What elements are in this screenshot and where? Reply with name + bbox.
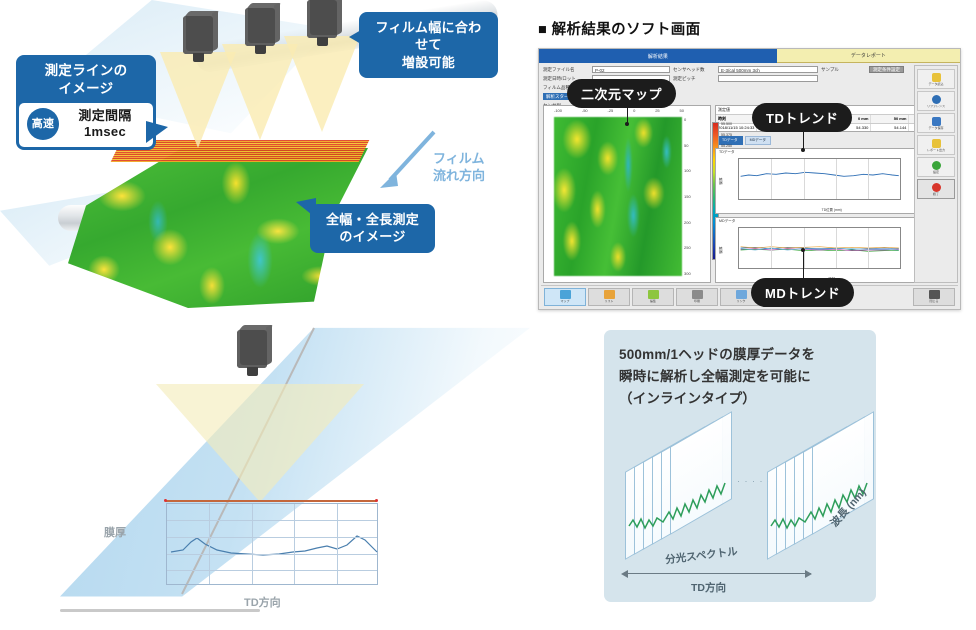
info-line-2: 瞬時に解析し全幅測定を可能に (619, 366, 861, 388)
bottom-button-label: 編集 (650, 299, 656, 303)
exit-icon (929, 290, 940, 299)
print-icon (692, 290, 703, 299)
map-x-axis: -100 -50 -25 0 25 50 (554, 108, 684, 116)
tool-button-save-data[interactable]: データ保存 (917, 113, 955, 133)
thickness-profile-path (167, 504, 379, 586)
right-toolbar: データ読込 リファレンス データ保存 レポート出力 設定 終了 (914, 65, 958, 283)
map-x-tick: 50 (679, 108, 683, 116)
window-tabbar: 解析結果 データレポート (539, 49, 960, 63)
open-folder-icon (932, 73, 941, 82)
callout-measure-body-l1: 測定間隔 (78, 108, 131, 123)
work-area: 二次元マップ -100 -50 -25 0 25 50 0 50 100 150… (543, 105, 912, 283)
colorbar-tick: 55.500 (721, 122, 732, 126)
leader-md-trend (803, 250, 804, 280)
measurement-point-right (375, 499, 378, 502)
inline-type-info-card: 500mm/1ヘッドの膜厚データを 瞬時に解析し全幅測定を可能に （インラインタ… (604, 330, 876, 602)
flow-label-l2: 流れ方向 (433, 168, 485, 183)
map-y-tick: 100 (684, 168, 708, 173)
flow-direction-label: フィルム 流れ方向 (433, 151, 485, 185)
two-dimensional-map-panel[interactable]: 二次元マップ -100 -50 -25 0 25 50 0 50 100 150… (543, 105, 711, 283)
td-arrow-head-right (805, 570, 812, 578)
export-icon (932, 139, 941, 148)
spectrum-stack-left (625, 430, 735, 548)
td-chart-xlabel: TD位置 (mm) (716, 207, 947, 212)
tool-label: 終了 (933, 192, 939, 196)
info-line-3: （インラインタイプ） (619, 388, 861, 410)
light-cone (156, 384, 364, 502)
map-y-tick: 0 (684, 117, 708, 122)
spectrum-wave-left (627, 464, 731, 542)
leader-dot-td-trend (801, 148, 805, 152)
bottom-button-label: 閉じる (929, 299, 938, 303)
measurement-line (166, 500, 376, 502)
tab-md-data[interactable]: MDデータ (745, 136, 771, 145)
bottom-button-map[interactable]: マップ (544, 288, 586, 306)
callout-full-area-l2: のイメージ (339, 229, 405, 244)
callout-measure-title-l1: 測定ラインの (45, 63, 128, 78)
callout-full-area-tail (296, 198, 316, 218)
md-chart-ylabel: 膜厚 (719, 246, 724, 253)
tool-label: データ保存 (928, 126, 943, 130)
field-label-filename: 測定ファイル名 (543, 67, 589, 73)
thickness-profile-chart (166, 503, 378, 585)
thickness-map-image (554, 117, 682, 276)
map-x-tick: -25 (607, 108, 613, 116)
camera-head-3 (307, 0, 341, 54)
leader-dot-2d-map (625, 122, 629, 126)
badge-high-speed: 高速 (27, 108, 59, 140)
thickness-label: 膜厚 (104, 524, 126, 540)
tool-button-exit[interactable]: 終了 (917, 179, 955, 199)
tool-label: レポート出力 (927, 148, 945, 152)
td-direction-card-label: TD方向 (691, 580, 726, 595)
callout-expandable-line2: 増設可能 (402, 55, 455, 70)
map-y-tick: 150 (684, 194, 708, 199)
pill-2d-map: 二次元マップ (567, 79, 676, 108)
link-icon (736, 290, 747, 299)
tool-label: 設定 (933, 170, 939, 174)
field-label-sensorheads: センサヘッド数 (673, 67, 715, 73)
map-x-tick: 0 (633, 108, 635, 116)
save-disk-icon (932, 117, 941, 126)
callout-measure-tail (146, 121, 168, 143)
td-chart-caption: TDデータ (719, 150, 735, 155)
camera-head-single (237, 330, 271, 384)
software-result-section: ■ 解析結果のソフト画面 解析結果 データレポート 測定ファイル名 P-02 セ… (505, 18, 976, 318)
camera-head-1 (183, 16, 217, 70)
td-plot-area (738, 158, 901, 200)
bottom-button-label: 印刷 (694, 299, 700, 303)
map-x-tick: -100 (554, 108, 562, 116)
td-chart-ylabel: 膜厚 (719, 177, 724, 184)
button-measure-settings[interactable]: 測定条件設定 (869, 66, 904, 73)
table-col: 50 mm (871, 115, 909, 123)
spectrum-stack-diagram: · · · · · · · · · · · · 分光スペクトル 波長 (nm) … (619, 416, 861, 586)
green-circle-icon (932, 161, 941, 170)
callout-expandable-tail (349, 30, 361, 44)
bottom-button-label: リスト (604, 299, 613, 303)
pill-md-trend: MDトレンド (751, 278, 854, 307)
section-heading: ■ 解析結果のソフト画面 (538, 18, 701, 39)
tool-button-settings[interactable]: 設定 (917, 157, 955, 177)
tool-button-reference[interactable]: リファレンス (917, 91, 955, 111)
tab-data-report[interactable]: データレポート (777, 49, 960, 63)
bottom-button-print[interactable]: 印刷 (676, 288, 718, 306)
list-icon (604, 290, 615, 299)
map-y-tick: 200 (684, 220, 708, 225)
bottom-button-close[interactable]: 閉じる (913, 288, 955, 306)
md-chart-caption: MDデータ (719, 219, 735, 224)
blue-circle-icon (932, 95, 941, 104)
table-cell: 54.144 (871, 124, 909, 131)
callout-full-area: 全幅・全長測定 のイメージ (310, 204, 435, 253)
map-y-tick: 300 (684, 271, 708, 276)
field-input-sensorheads[interactable]: E-3/cal 500mm 3ch (718, 66, 818, 73)
pill-td-trend: TDトレンド (752, 103, 852, 132)
tool-label: データ読込 (928, 82, 943, 86)
tab-data-report-label: データレポート (851, 52, 886, 59)
edit-icon (648, 290, 659, 299)
map-x-tick: -50 (582, 108, 588, 116)
map-y-tick: 50 (684, 143, 708, 148)
map-icon (560, 290, 571, 299)
field-input-filename[interactable]: P-02 (592, 66, 670, 73)
bottom-toolbar: マップ リスト 編集 印刷 リンク 閉じる (541, 285, 958, 307)
callout-measure-body-l2: 1msec (84, 124, 126, 139)
callout-expandable: フィルム幅に合わせて 増設可能 (359, 12, 498, 78)
td-direction-label: TD方向 (244, 594, 281, 610)
callout-full-area-l1: 全幅・全長測定 (326, 212, 419, 227)
callout-measure-title-l2: イメージ (59, 81, 114, 96)
roll-film-illustration: フィルム幅に合わせて 増設可能 測定ラインの イメージ 高速 測定間隔 1mse… (0, 0, 505, 320)
map-x-tick: 25 (655, 108, 659, 116)
td-arrow-head-left (621, 570, 628, 578)
tab-analysis-result[interactable]: 解析結果 (539, 49, 777, 63)
bottom-button-label: リンク (736, 299, 745, 303)
callout-expandable-line1: フィルム幅に合わせて (376, 20, 482, 52)
td-direction-arrow (625, 573, 811, 575)
camera-head-2 (245, 8, 279, 62)
bottom-button-edit[interactable]: 編集 (632, 288, 674, 306)
info-line-1: 500mm/1ヘッドの膜厚データを (619, 344, 861, 366)
flow-direction-arrow (376, 128, 438, 192)
bottom-button-label: マップ (560, 299, 569, 303)
map-y-axis: 0 50 100 150 200 250 300 (684, 117, 708, 276)
leader-dot-md-trend (801, 248, 805, 252)
measurement-point-left (164, 499, 167, 502)
tab-analysis-result-label: 解析結果 (648, 53, 668, 60)
floor-line (60, 609, 260, 612)
bottom-button-list[interactable]: リスト (588, 288, 630, 306)
map-y-tick: 250 (684, 245, 708, 250)
tool-button-load-data[interactable]: データ読込 (917, 69, 955, 89)
stop-icon (932, 183, 941, 192)
field-input-pitch[interactable] (718, 75, 818, 82)
field-label-pitch: 測定ピッチ (673, 76, 715, 82)
tool-label: リファレンス (927, 104, 945, 108)
td-series-path (739, 159, 900, 199)
flow-label-l1: フィルム (433, 151, 484, 166)
md-series-paths (739, 228, 900, 268)
info-card-text: 500mm/1ヘッドの膜厚データを 瞬時に解析し全幅測定を可能に （インラインタ… (619, 344, 861, 410)
single-head-illustration: 膜厚 TD方向 (60, 322, 620, 630)
tool-button-export-report[interactable]: レポート出力 (917, 135, 955, 155)
colorbar-tick: 55.375 (721, 133, 732, 137)
md-plot-area (738, 227, 901, 269)
callout-measure-line: 測定ラインの イメージ 高速 測定間隔 1msec (16, 55, 156, 150)
field-label-sample: サンプル (821, 67, 847, 73)
